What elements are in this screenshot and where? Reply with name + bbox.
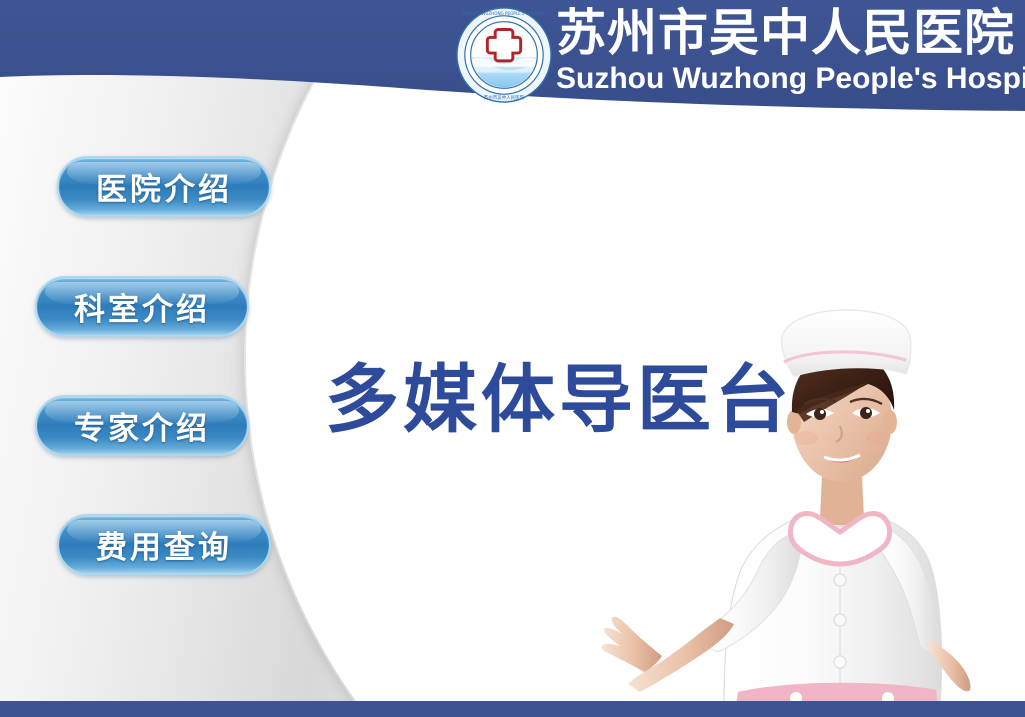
sidebar-item-hospital-introduction[interactable]: 医院介绍	[57, 156, 271, 217]
header-titles: 苏州市吴中人民医院 Suzhou Wuzhong People's Hospit…	[556, 4, 1018, 97]
svg-text:苏州市吴中人民医院: 苏州市吴中人民医院	[484, 94, 525, 101]
sidebar-item-expert-introduction[interactable]: 专家介绍	[35, 395, 249, 456]
hospital-seal-logo: SUZHOU WUZHONG PEOPLE'S HOSPITAL 苏州市吴中人民…	[455, 6, 553, 104]
sidebar-item-label: 科室介绍	[74, 284, 210, 329]
hospital-name-en: Suzhou Wuzhong People's Hospital	[556, 61, 1018, 97]
hospital-name-cn: 苏州市吴中人民医院	[556, 4, 1018, 62]
nurse-hand	[602, 617, 662, 672]
sidebar-item-label: 专家介绍	[74, 403, 210, 448]
nurse-photo	[600, 280, 1025, 705]
sidebar-item-fee-inquiry[interactable]: 费用查询	[57, 514, 271, 575]
kiosk-screen: SUZHOU WUZHONG PEOPLE'S HOSPITAL 苏州市吴中人民…	[0, 0, 1025, 717]
sidebar-menu: 医院介绍 科室介绍 专家介绍 费用查询	[0, 0, 330, 717]
sidebar-item-department-introduction[interactable]: 科室介绍	[35, 276, 249, 337]
nurse-cap	[782, 310, 911, 376]
sidebar-item-label: 费用查询	[96, 522, 232, 567]
bottom-accent-bar	[0, 701, 1025, 717]
svg-text:SUZHOU WUZHONG PEOPLE'S HOSPIT: SUZHOU WUZHONG PEOPLE'S HOSPITAL	[462, 11, 546, 16]
sidebar-item-label: 医院介绍	[96, 164, 232, 209]
